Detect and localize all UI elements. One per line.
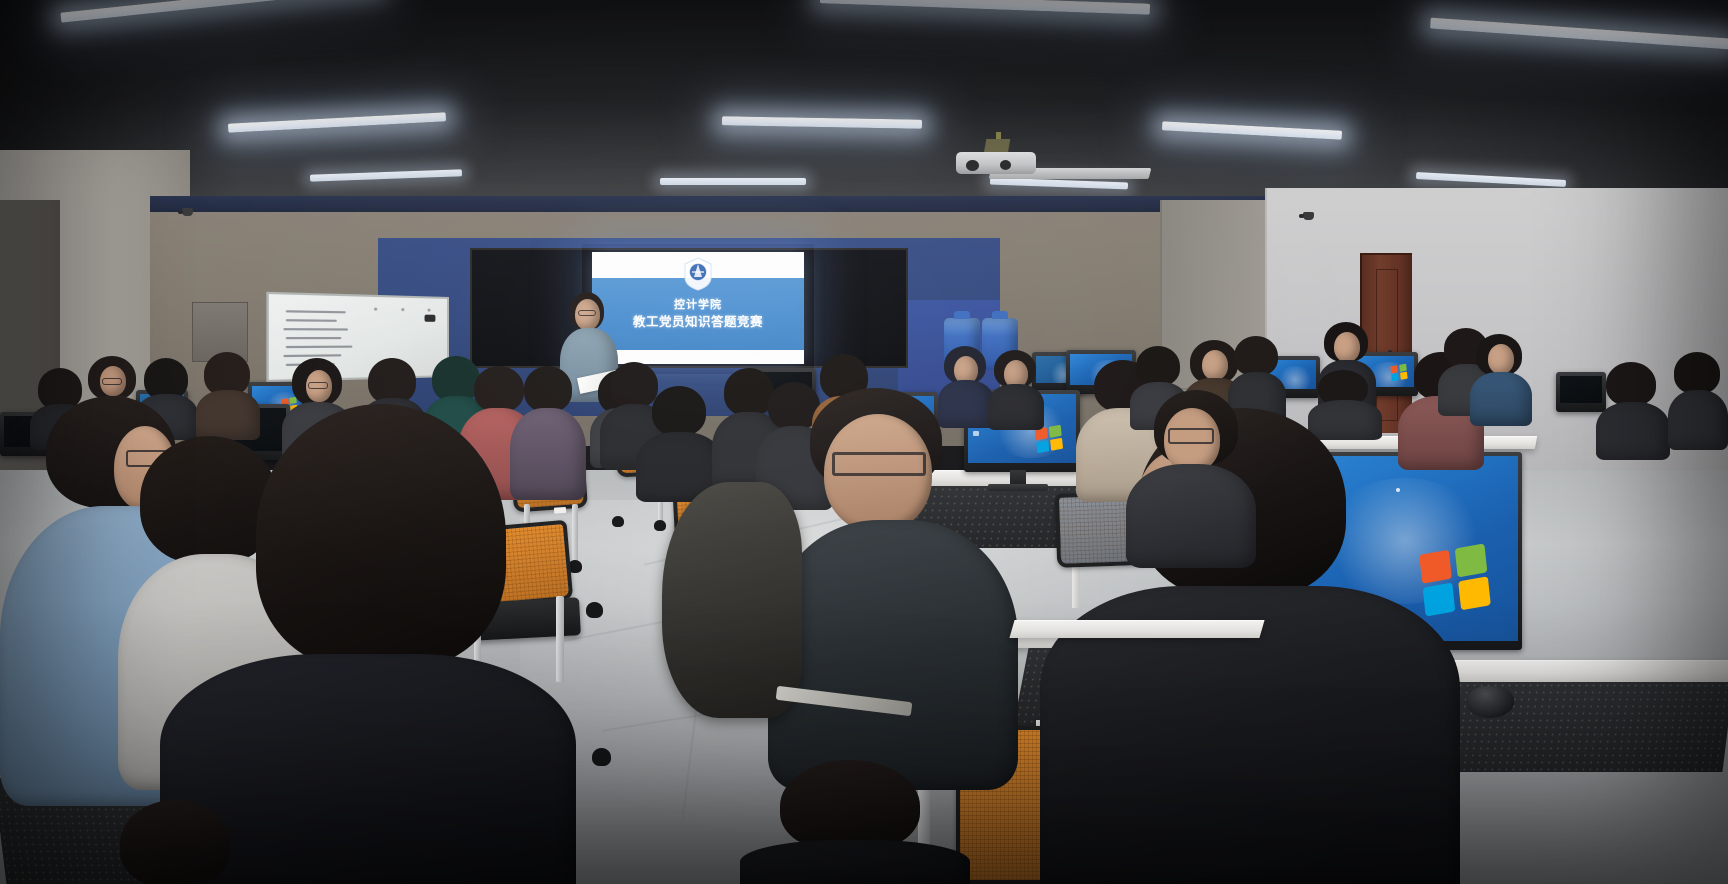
- glasses-icon: [102, 378, 122, 385]
- university-emblem-icon: [683, 257, 713, 291]
- slide-line-2: 教工党员知识答题竞赛: [592, 316, 804, 329]
- attendee-foreground: [768, 388, 1018, 788]
- whiteboard-marker[interactable]: [425, 315, 436, 322]
- whiteboard-text-line: [283, 328, 348, 331]
- hair: [1136, 346, 1180, 386]
- chair-caster: [654, 520, 666, 531]
- whiteboard-mark: [401, 308, 404, 311]
- head: [1202, 350, 1228, 380]
- torso: [768, 520, 1018, 790]
- computer-desk: [1009, 620, 1264, 638]
- glasses-icon: [832, 452, 926, 476]
- glasses-icon: [308, 382, 328, 389]
- security-camera: [1303, 212, 1314, 220]
- wall-header-strip: [150, 196, 1270, 212]
- whiteboard-text-line: [286, 310, 346, 313]
- whiteboard-mark: [428, 309, 431, 312]
- glasses-icon: [1168, 428, 1214, 444]
- projection-screen: 控计学院 教工党员知识答题竞赛: [592, 252, 804, 364]
- hair: [120, 800, 230, 884]
- head: [1488, 344, 1514, 374]
- chair-caster: [612, 516, 624, 527]
- attendee: [1126, 390, 1256, 560]
- projector-lens-icon: [966, 160, 979, 171]
- torso: [1596, 402, 1670, 460]
- hair: [1234, 336, 1278, 376]
- projector-lens-icon: [1000, 160, 1011, 170]
- security-camera: [182, 208, 193, 216]
- hair: [652, 386, 706, 436]
- coat-on-chair: [662, 482, 802, 718]
- hair: [256, 404, 506, 668]
- attendee: [636, 386, 724, 496]
- attendee: [1470, 334, 1532, 422]
- ceiling-light-fixture: [660, 178, 806, 185]
- torso: [740, 840, 970, 884]
- desk-panel-perforation: [1418, 682, 1728, 772]
- chair-caster: [586, 602, 603, 618]
- torso: [1470, 372, 1532, 426]
- attendee-foreground: [100, 800, 250, 884]
- hair: [1606, 362, 1656, 406]
- torso: [1126, 464, 1256, 568]
- desk-modesty-panel: [1418, 682, 1728, 772]
- chair-caster: [592, 748, 611, 766]
- glasses-icon: [578, 310, 596, 316]
- classroom-photo-scene: 控计学院 教工党员知识答题竞赛: [0, 0, 1728, 884]
- slide-line-1: 控计学院: [592, 300, 804, 311]
- hair: [780, 760, 920, 852]
- whiteboard-text-line: [283, 354, 341, 357]
- whiteboard-mark: [374, 307, 377, 310]
- hair: [1674, 352, 1720, 394]
- head: [1334, 332, 1360, 362]
- whiteboard-text-line: [286, 319, 337, 322]
- attendee: [1668, 352, 1728, 448]
- whiteboard-text-line: [286, 346, 353, 349]
- attendee: [1596, 362, 1670, 456]
- whiteboard-text-line: [286, 337, 342, 339]
- torso: [1668, 390, 1728, 450]
- computer-mouse[interactable]: [1466, 686, 1514, 718]
- attendee-foreground: [740, 760, 970, 884]
